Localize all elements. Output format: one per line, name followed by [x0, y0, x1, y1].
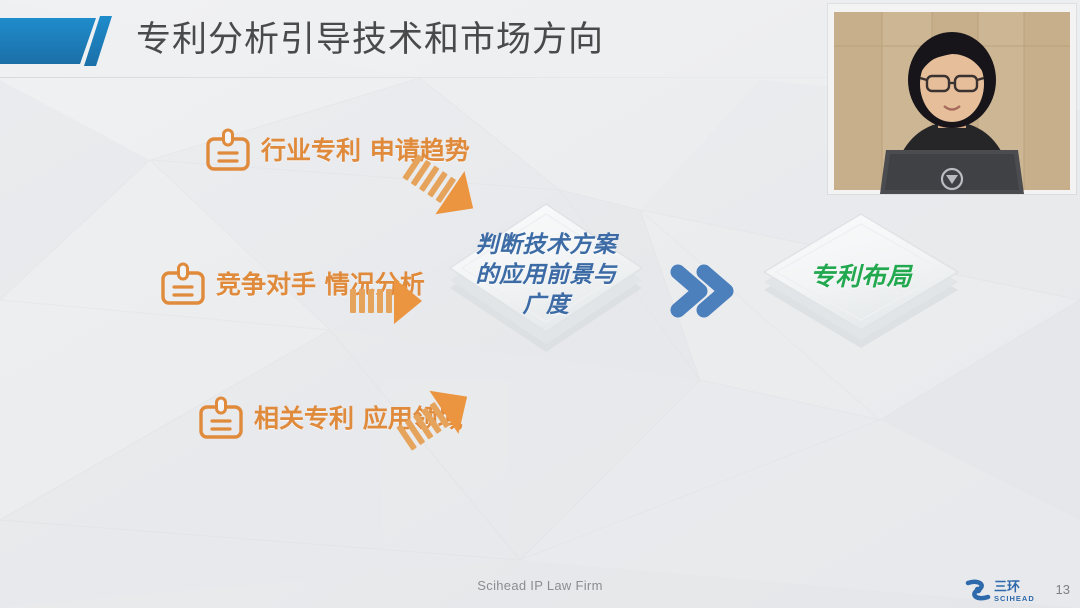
page-number: 13 — [1056, 582, 1070, 597]
badge-icon — [198, 396, 244, 441]
presenter-video-feed[interactable] — [828, 4, 1076, 194]
center-node-line1: 判断技术方案 — [430, 230, 662, 260]
title-decoration-icon — [0, 12, 125, 70]
center-node[interactable]: 判断技术方案 的应用前景与 广度 — [430, 196, 662, 374]
footer-text: Scihead IP Law Firm — [0, 578, 1080, 593]
double-chevron-right-icon — [668, 254, 736, 333]
center-node-line3: 广度 — [430, 290, 662, 320]
center-node-label: 判断技术方案 的应用前景与 广度 — [430, 230, 662, 320]
scihead-logo: 三环 SCIHEAD — [964, 578, 1046, 604]
center-node-line2: 的应用前景与 — [430, 260, 662, 290]
page-title: 专利分析引导技术和市场方向 — [136, 14, 604, 66]
result-node-line1: 专利布局 — [752, 262, 970, 292]
input-item-1-line1: 行业专利 — [261, 136, 361, 165]
input-item-3-line1: 相关专利 — [254, 404, 354, 433]
result-node-label: 专利布局 — [752, 262, 970, 292]
input-item-2-line1: 竞争对手 — [216, 270, 316, 299]
badge-icon — [160, 262, 206, 307]
result-node[interactable]: 专利布局 — [752, 206, 970, 366]
slide-canvas: 专利分析引导技术和市场方向 行业专利 申请趋势 — [0, 0, 1080, 608]
svg-text:三环: 三环 — [994, 580, 1020, 595]
svg-text:SCIHEAD: SCIHEAD — [994, 594, 1035, 603]
arrow-up-right-icon — [390, 385, 478, 458]
arrow-right-icon — [348, 272, 426, 335]
badge-icon — [205, 128, 251, 173]
scihead-logo-mark — [968, 582, 988, 598]
